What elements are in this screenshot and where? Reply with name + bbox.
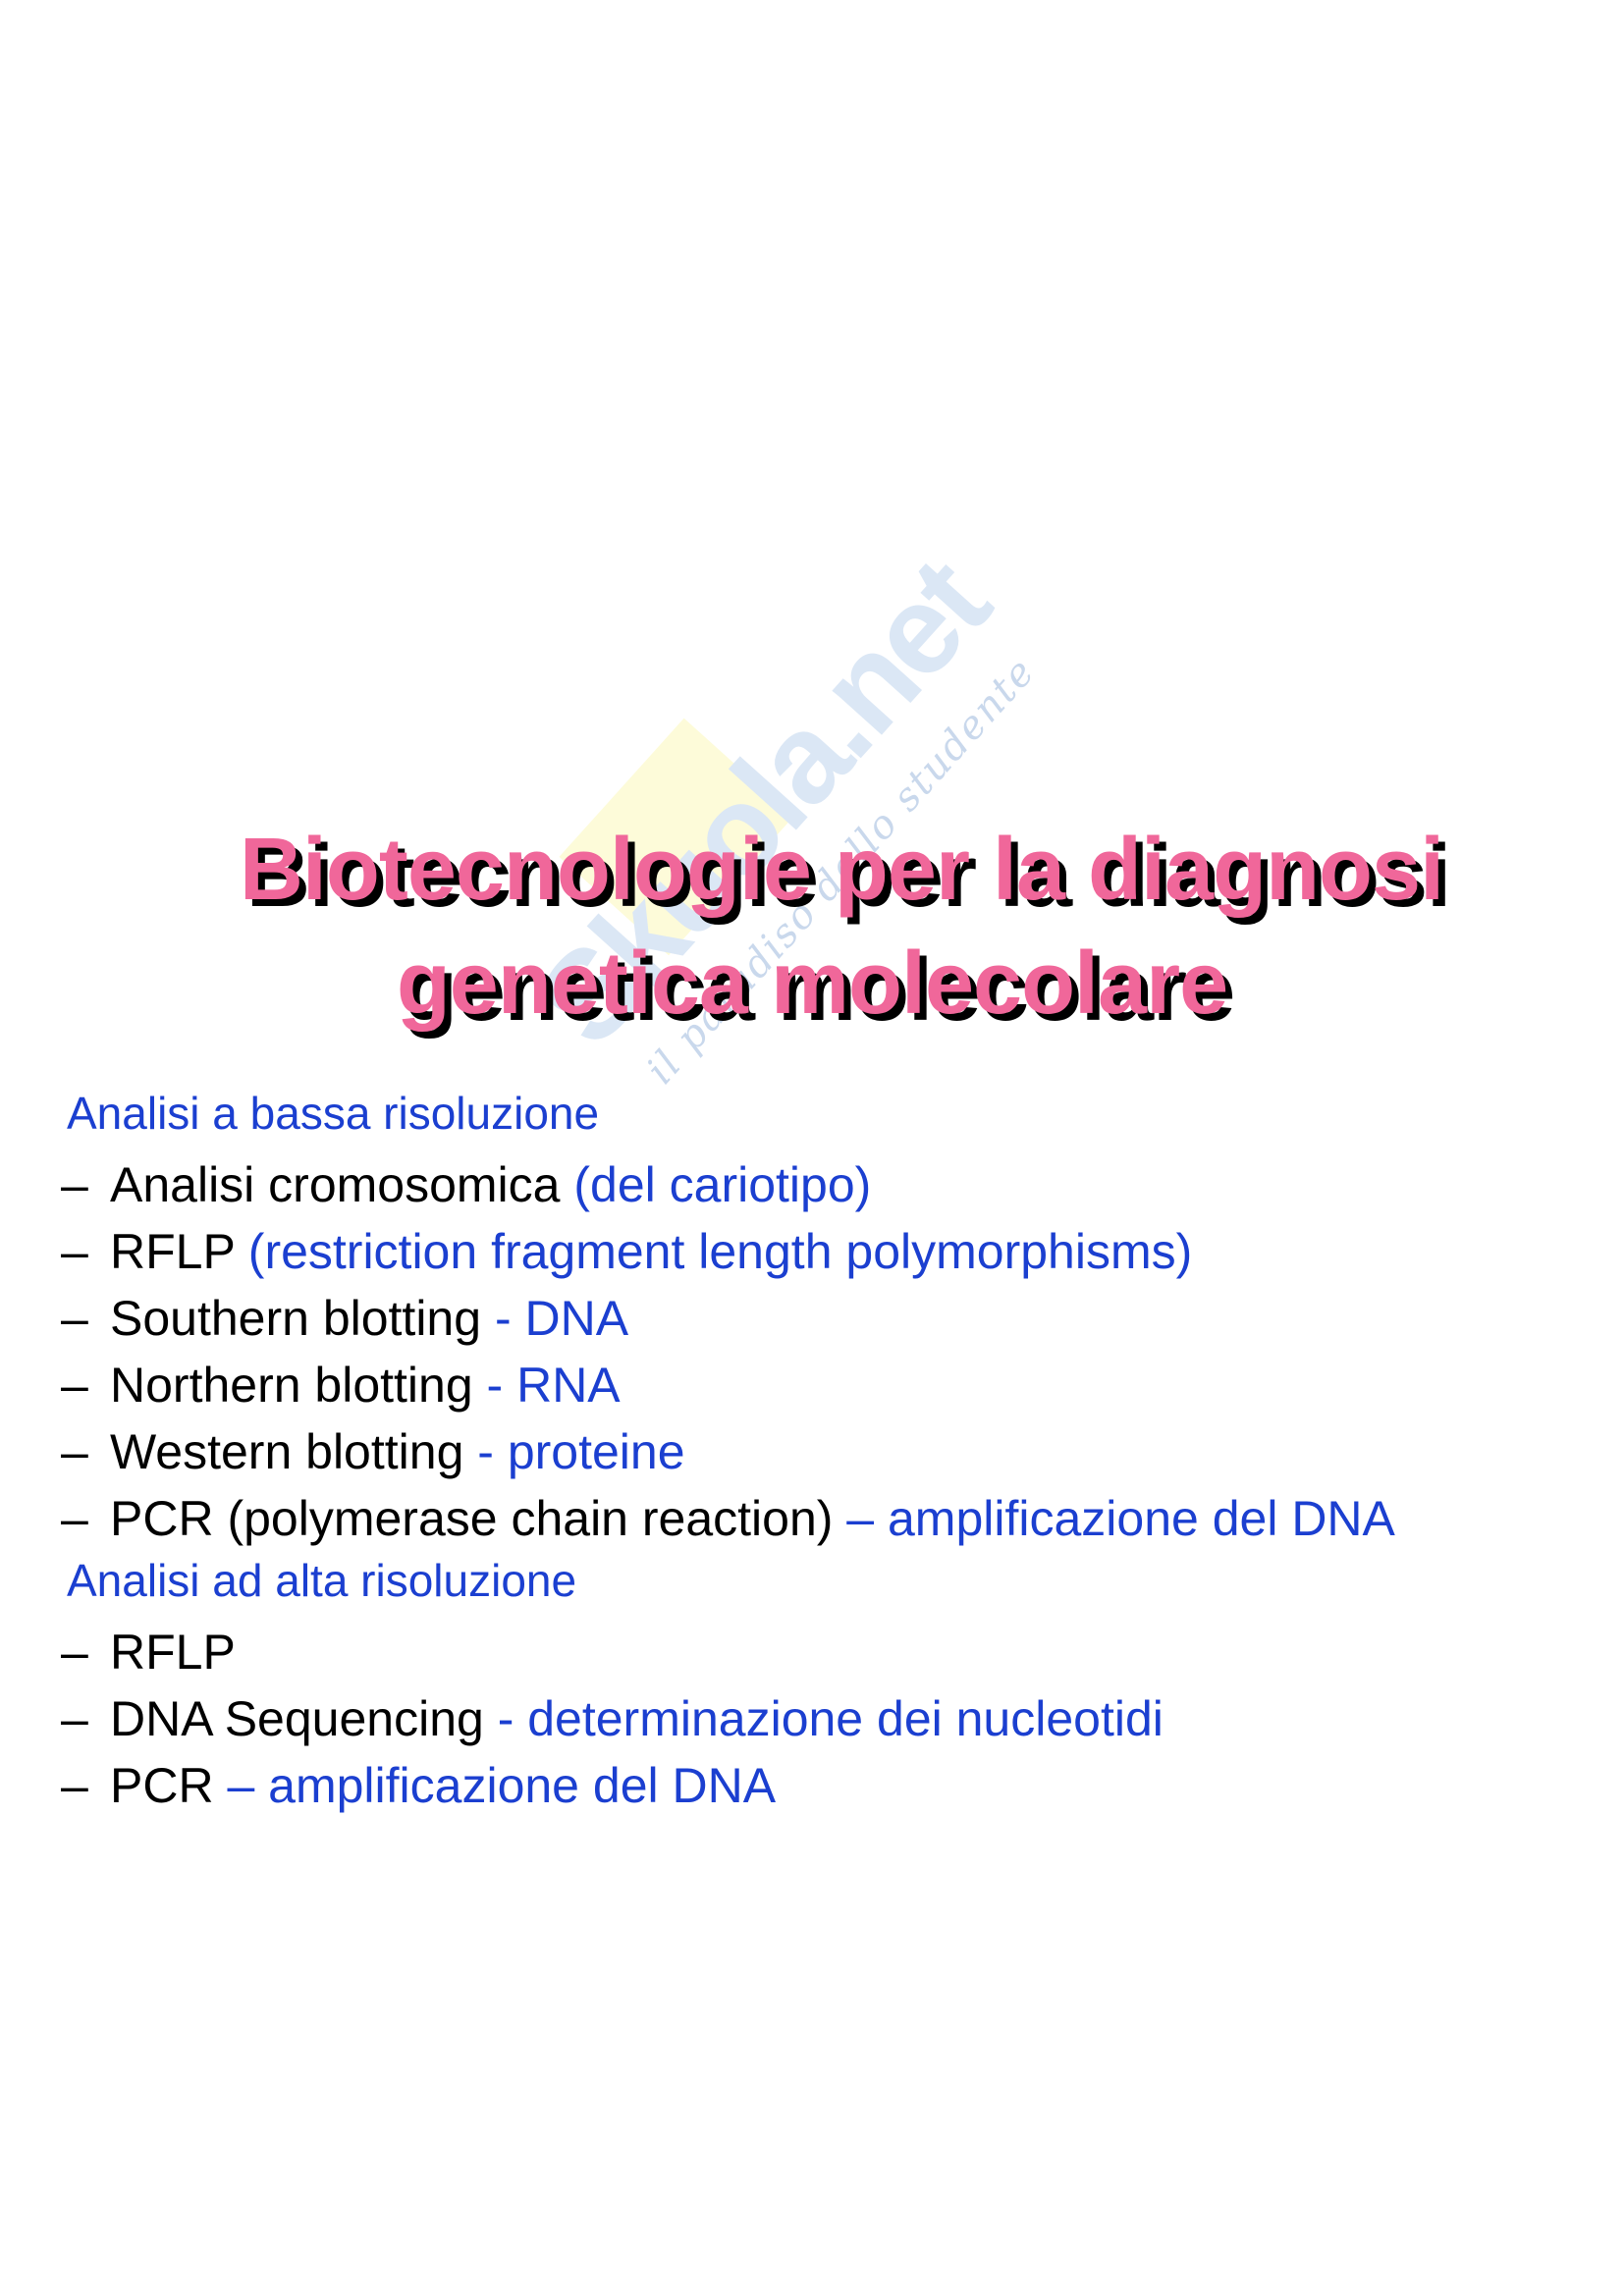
page-title: Biotecnologie per la diagnosi genetica m… xyxy=(0,813,1624,1041)
bullet-dash-icon: – xyxy=(61,1221,110,1282)
bullet-dash-icon: – xyxy=(61,1154,110,1215)
title-line-1: Biotecnologie per la diagnosi xyxy=(59,813,1624,927)
list-item-label: Southern blotting xyxy=(110,1291,495,1346)
list-item: – Southern blotting - DNA xyxy=(0,1288,1624,1355)
bullet-dash-icon: – xyxy=(61,1355,110,1415)
list-item-label: Northern blotting xyxy=(110,1358,487,1413)
list-item-note: - DNA xyxy=(495,1291,628,1346)
bullet-dash-icon: – xyxy=(61,1421,110,1482)
outline-content: Analisi a bassa risoluzione – Analisi cr… xyxy=(0,1088,1624,1822)
list-item-note: - RNA xyxy=(487,1358,621,1413)
list-item: – PCR – amplificazione del DNA xyxy=(0,1755,1624,1822)
list-item: – Northern blotting - RNA xyxy=(0,1355,1624,1421)
bullet-dash-icon: – xyxy=(61,1688,110,1749)
section-heading-high-resolution: Analisi ad alta risoluzione xyxy=(0,1555,1624,1622)
list-item: – RFLP (restriction fragment length poly… xyxy=(0,1221,1624,1288)
list-item-label: RFLP xyxy=(110,1224,248,1279)
list-item: – PCR (polymerase chain reaction) – ampl… xyxy=(0,1488,1624,1555)
list-item-label: DNA Sequencing xyxy=(110,1691,498,1746)
list-item-label: RFLP xyxy=(110,1625,236,1680)
slide-page: Skuola.net il paradiso dello studente Bi… xyxy=(0,0,1624,2296)
title-line-2: genetica molecolare xyxy=(0,927,1624,1041)
list-item-note: - proteine xyxy=(477,1424,684,1479)
list-item-note: (del cariotipo) xyxy=(573,1157,871,1212)
bullet-dash-icon: – xyxy=(61,1622,110,1682)
list-item-label: Analisi cromosomica xyxy=(110,1157,573,1212)
bullet-dash-icon: – xyxy=(61,1488,110,1549)
list-item-label: PCR (polymerase chain reaction) xyxy=(110,1491,846,1546)
bullet-dash-icon: – xyxy=(61,1288,110,1349)
list-item: – Western blotting - proteine xyxy=(0,1421,1624,1488)
list-item-label: PCR xyxy=(110,1758,227,1813)
list-item-note: – amplificazione del DNA xyxy=(846,1491,1395,1546)
list-item-note: – amplificazione del DNA xyxy=(227,1758,776,1813)
bullet-dash-icon: – xyxy=(61,1755,110,1816)
list-item-label: Western blotting xyxy=(110,1424,477,1479)
list-item-note: (restriction fragment length polymorphis… xyxy=(248,1224,1192,1279)
list-item: – DNA Sequencing - determinazione dei nu… xyxy=(0,1688,1624,1755)
list-item-note: - determinazione dei nucleotidi xyxy=(498,1691,1164,1746)
section-heading-low-resolution: Analisi a bassa risoluzione xyxy=(0,1088,1624,1154)
list-item: – Analisi cromosomica (del cariotipo) xyxy=(0,1154,1624,1221)
list-item: – RFLP xyxy=(0,1622,1624,1688)
